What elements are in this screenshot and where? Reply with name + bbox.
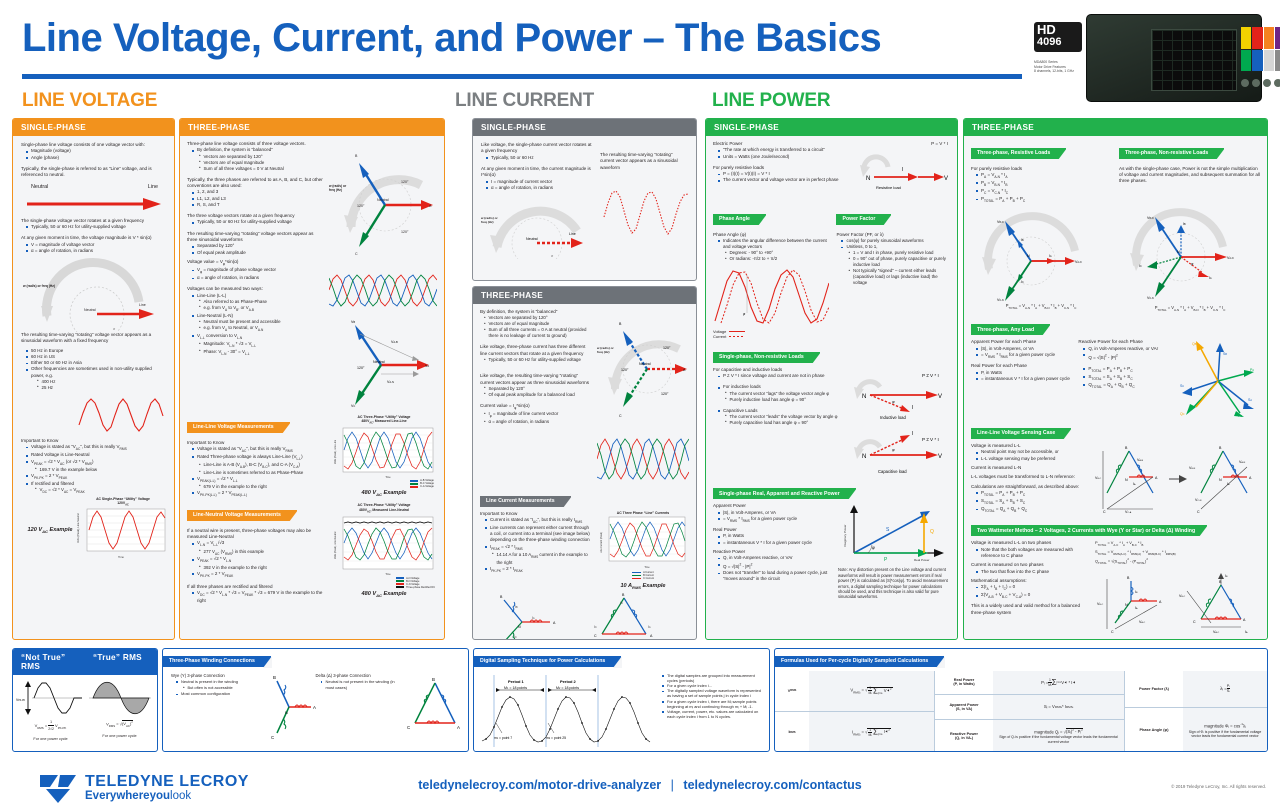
rms-not-true-header: “Not True” RMS — [13, 649, 85, 675]
wye-two-wattmeter-icon: BC AN VB-C VA-C IB IA — [1095, 571, 1171, 635]
pt-nonres-p: As with the single-phase case, Power is … — [1119, 166, 1261, 185]
svg-text:Time: Time — [644, 566, 650, 569]
svg-text:B: B — [1127, 576, 1130, 580]
pt-nonres-eq: PTOTAL = VA-N * IA + VB-N * IB + VC-N * … — [1119, 305, 1261, 313]
vs-p5: The resulting time-varying “rotating” vo… — [21, 332, 166, 345]
svg-text:SA: SA — [1248, 398, 1252, 402]
ct-legend: A Current B Current C Current — [597, 571, 689, 580]
footer-link-motor-drive-analyzer[interactable]: teledynelecroy.com/motor-drive-analyzer — [418, 778, 661, 792]
svg-text:VA: VA — [425, 364, 429, 368]
svg-text:B: B — [1125, 446, 1128, 450]
list-item: Of equal peak amplitude for a balanced l… — [484, 392, 592, 398]
list-item: The digitally sampled voltage waveform i… — [662, 688, 761, 698]
svg-text:Volts (Peak), Line-Neutral: Volts (Peak), Line-Neutral — [77, 513, 80, 543]
list-item: = instantaneous V * I for a given power … — [976, 376, 1072, 382]
ribbon-line-neutral-voltage: Line-Neutral Voltage Measurements — [187, 510, 297, 521]
svg-text:B: B — [432, 677, 435, 682]
wye-winding-icon: BC AN IB IC IA — [480, 592, 562, 640]
list-item: VPEAK = √2 * VL-N — [192, 556, 326, 564]
ribbon-real-apparent-reactive: Single-phase Real, Apparent and Reactive… — [713, 488, 856, 499]
svg-text:B: B — [500, 595, 503, 599]
list-item: The current vector and voltage vector ar… — [718, 177, 849, 183]
footer-link-contact-us[interactable]: teledynelecroy.com/contactus — [683, 778, 861, 792]
svg-text:B: B — [622, 593, 625, 597]
table-row: Phase Angle (φ) magnitude Φᵢ = cos-1λᵢ S… — [1125, 708, 1267, 752]
vs-rotation-diagram: Neutral Line α w (rad/s) or freq (Hz) — [21, 254, 166, 332]
list-item: Neutral is not present in the winding (i… — [321, 679, 400, 691]
list-item: Vφ = magnitude of phase voltage vector — [192, 267, 324, 275]
svg-text:Capacitive load: Capacitive load — [878, 469, 907, 474]
svg-text:Time: Time — [385, 476, 391, 479]
svg-text:IC: IC — [594, 625, 597, 629]
list-item: PA = VA-N * IA — [976, 172, 1111, 180]
vt-legend-line-line: A-B Voltage B-C Voltage C-A Voltage — [331, 479, 434, 488]
svg-text:V: V — [938, 454, 942, 460]
list-item: Sum of all three currents = 0 A at neutr… — [484, 327, 592, 339]
svg-text:VB-N: VB-N — [1189, 466, 1196, 470]
list-item: PB = VB-N * IB — [976, 180, 1111, 188]
svg-text:V: V — [938, 394, 942, 400]
pt-tw-p4: This is a widely used and valid method f… — [971, 603, 1089, 616]
list-item: PC = VC-N * IC — [976, 188, 1111, 196]
list-item: PTOTAL = PA + PB + PC — [1083, 366, 1172, 374]
list-item: VPK-PK = 2 * VPEAK — [26, 473, 166, 481]
panel-formulas: Formulas Used for Per-cycle Digitally Sa… — [774, 648, 1268, 752]
list-item: VPK-PK = 2 * VPEAK — [192, 571, 326, 579]
panel-voltage-three-phase: THREE-PHASE Three-phase line voltage con… — [179, 118, 445, 640]
ribbon-line-line-voltage: Line-Line Voltage Measurements — [187, 422, 290, 433]
section-title-line-voltage: LINE VOLTAGE — [22, 90, 157, 112]
vs-rot-line: Line — [139, 303, 146, 307]
svg-text:120°: 120° — [661, 392, 669, 396]
rms-true-eq: VRMS = √(VAC)2 — [85, 719, 154, 730]
pt-res-eq: PTOTAL = VA-N * IA + VB-N * IB + VC-N * … — [971, 303, 1111, 311]
page-title: Line Voltage, Current, and Power – The B… — [22, 16, 881, 61]
vt-line-line-vectors: Neutral VA VB VC VA-B VA-N 120° — [329, 313, 437, 411]
svg-text:IB: IB — [515, 605, 518, 609]
vt-p2: Typically, the three phases are referred… — [187, 177, 324, 190]
ct-p4: Current value = Iφ*sin(α) — [480, 403, 592, 411]
vs-neutral-label: Neutral — [31, 184, 48, 190]
svg-text:120°: 120° — [663, 346, 671, 350]
ps-eq2a: P ≠ V * I — [922, 373, 939, 378]
svg-text:m1 = point 7: m1 = point 7 — [494, 736, 512, 740]
svg-text:C: C — [1193, 620, 1196, 624]
ribbon-three-any-load: Three-phase, Any Load — [971, 324, 1050, 335]
sampling-bullets: The digital samples are grouped into mea… — [662, 673, 761, 720]
panel-header: SINGLE-PHASE — [473, 119, 696, 136]
svg-text:φ: φ — [892, 447, 895, 452]
table-row: Power Factor (λ) λᵢ = PᵢSᵢ — [1125, 671, 1267, 709]
vs-rot-neutral: Neutral — [84, 308, 96, 312]
list-item: = instantaneous V * I for a given power … — [718, 540, 832, 546]
panel-header: THREE-PHASE — [473, 287, 696, 304]
panel-header: THREE-PHASE — [180, 119, 444, 136]
cs-p2: At any given moment in time, the current… — [481, 166, 594, 179]
svg-text:VC-N: VC-N — [1195, 498, 1202, 502]
svg-text:B: B — [355, 154, 358, 158]
svg-text:N: N — [1219, 478, 1222, 482]
period2-label: Period 2 — [560, 679, 577, 684]
vs-chart: AC Single-Phase “Utility” Voltage120VAC … — [21, 497, 166, 563]
formulas-table: VRMS VRMSᵢ = √1Mᵢ Σj=mᵢ V⯇2 IRMS IRMSᵢ =… — [775, 671, 1267, 753]
list-item: The two that flow into the C phase — [976, 569, 1089, 575]
svg-text:120°: 120° — [357, 204, 365, 208]
list-item: Σ(VA-B + VB-C + VC-A) = 0 — [976, 592, 1089, 600]
sampling-waveform: Period 1 Period 2 M1 = 18 points M2 = 18… — [480, 671, 652, 751]
vt-legend-line-neutral: A-N Voltage B-N Voltage C-N Voltage Thre… — [331, 577, 435, 589]
wye-equivalent-diagram: BCA N VB-N VA-N VC-N IA — [1189, 443, 1259, 515]
list-item: Iφ = magnitude of line current vector — [484, 411, 592, 419]
list-item: Indicates the angular difference between… — [718, 238, 830, 250]
svg-text:N: N — [1125, 603, 1128, 607]
svg-text:VB-C: VB-C — [1095, 476, 1102, 480]
svg-text:V: V — [944, 176, 948, 182]
list-item: VPK-PK(L-L) = 2 * VPEAK(L-L) — [192, 490, 326, 498]
list-item: The digital samples are grouped into mea… — [662, 673, 761, 683]
svg-text:Line: Line — [569, 232, 576, 236]
ct-vector-rosette: Neutral A B C 120° 120° 120° — [597, 309, 689, 427]
svg-text:VB-C: VB-C — [1097, 602, 1104, 606]
transform-arrow-icon — [1167, 469, 1187, 489]
panel-voltage-single-phase: SINGLE-PHASE Single-phase line voltage c… — [12, 118, 175, 640]
ps-phase-waveform: φ — [713, 265, 829, 327]
svg-text:C: C — [594, 634, 597, 638]
list-item: QTOTAL = QA + QB + QC — [1083, 382, 1172, 390]
svg-text:IA: IA — [1209, 276, 1212, 280]
vt-p4: The resulting time-varying “rotating” vo… — [187, 231, 324, 244]
title-underline — [22, 74, 1022, 79]
svg-text:B: B — [619, 322, 622, 326]
list-item: R, S, and T — [192, 202, 324, 208]
svg-text:N: N — [1027, 254, 1030, 258]
svg-text:φ: φ — [892, 399, 895, 404]
list-item: α = angle of rotation, in radians — [484, 419, 592, 425]
ribbon-digital-sampling: Digital Sampling Technique for Power Cal… — [474, 656, 621, 667]
table-row: Apparent Power (S, in VA) Sᵢ = VRMSᵢ * I… — [935, 695, 1124, 720]
list-item: Voltage, current, power, etc. values are… — [662, 709, 761, 719]
vs-sine-waveform — [21, 393, 167, 435]
ct-p2: Like voltage, three-phase current has th… — [480, 344, 592, 357]
svg-text:IA: IA — [1133, 482, 1136, 486]
list-item: Units = Watts (one Joule/second) — [718, 154, 849, 160]
svg-text:A: A — [553, 621, 556, 625]
ribbon-line-current-measurements: Line Current Measurements — [480, 496, 571, 507]
svg-text:φ: φ — [872, 545, 875, 550]
svg-text:Neutral: Neutral — [526, 237, 538, 241]
delta-winding-icon: BCA IB IC IA — [580, 592, 662, 640]
svg-text:α: α — [113, 327, 116, 331]
list-item: Q = √|S|2 - |P|2 — [718, 561, 832, 570]
section-title-line-power: LINE POWER — [712, 90, 830, 112]
cs-side-text: The resulting time-varying “rotating” cu… — [600, 152, 688, 171]
list-item: VDC = √2 * VL-N * √3 = VPEAK * √3 = 679 … — [192, 590, 326, 604]
ribbon-formulas: Formulas Used for Per-cycle Digitally Sa… — [775, 656, 944, 667]
svg-text:Volts (Peak), Line-Line: Volts (Peak), Line-Line — [334, 440, 337, 465]
list-item: STOTAL = SA + SB + SC — [1083, 374, 1172, 382]
pt-tw-winding-diagrams: BC AN VB-C VA-C IB IA — [1095, 571, 1259, 635]
list-item: QTOTAL = QA + QB + QC — [976, 506, 1089, 514]
svg-text:SC: SC — [1180, 384, 1184, 388]
list-item: Typically, 50 or 60 Hz — [486, 155, 594, 161]
svg-text:C: C — [1111, 630, 1114, 634]
list-item: IPK-PK = 2 * IPEAK — [485, 566, 592, 574]
pt-nonresistive-vectors: N VA-N VB-N VC-N IB IA IC φ — [1119, 199, 1261, 305]
panel-winding-connections: Three-Phase Winding Connections Wye (Y) … — [162, 648, 469, 752]
svg-text:N: N — [1177, 250, 1180, 254]
svg-text:VB: VB — [351, 320, 355, 324]
panel-power-three-phase: THREE-PHASE Three-phase, Resistive Loads… — [963, 118, 1268, 640]
ribbon-power-factor: Power Factor — [836, 214, 891, 225]
panel-digital-sampling: Digital Sampling Technique for Power Cal… — [473, 648, 770, 752]
svg-text:A: A — [457, 725, 460, 730]
list-item: Line-Line is A-B (VA-B), B-C (VB-C), and… — [199, 462, 326, 470]
svg-text:C: C — [271, 735, 274, 740]
svg-text:S: S — [886, 527, 890, 533]
rms-not-true-caption: For one power cycle — [16, 736, 85, 742]
svg-text:I: I — [902, 167, 903, 173]
panel-header: SINGLE-PHASE — [13, 119, 174, 136]
svg-text:VPK-PK: VPK-PK — [16, 698, 26, 702]
svg-text:IB: IB — [1225, 574, 1228, 578]
ps-wave-legend: Voltage Current — [713, 329, 830, 339]
svg-text:Q: Q — [930, 529, 934, 535]
svg-text:IA: IA — [1135, 606, 1138, 610]
svg-text:PA: PA — [1250, 368, 1254, 372]
svg-text:IA: IA — [1245, 630, 1248, 634]
panel-rms-comparison: “Not True” RMS “True” RMS VPK-PK VRMS = … — [12, 648, 158, 752]
delta-two-wattmeter-icon: BCA IB IA VB-C VA-C — [1177, 571, 1257, 635]
list-item: PTOTAL = PA + PB + PC — [976, 196, 1111, 204]
vt-three-sines — [329, 271, 437, 309]
list-item: Rated Three-phase voltage is always Line… — [192, 454, 326, 462]
list-item: 0 = 90° out of phase, purely capacitive … — [848, 256, 950, 268]
ribbon-line-line-sensing: Line-Line Voltage Sensing Case — [971, 428, 1071, 439]
svg-text:P: P — [884, 557, 888, 563]
list-item: e.g. from VA to VB, or VA-B — [199, 305, 324, 313]
svg-text:VA-B: VA-B — [1137, 458, 1144, 462]
vs-line-label: Line — [148, 184, 158, 190]
list-item: Phase: VL-N - 30° = VL-L — [199, 349, 324, 357]
svg-text:Volts (Peak), Line-Neutral: Volts (Peak), Line-Neutral — [334, 531, 337, 559]
list-item: Most common configuration — [176, 691, 257, 697]
list-item: Voltage is stated as “VAC”, but this is … — [192, 446, 326, 454]
ps-resistive-caption: Resistive load — [876, 185, 901, 190]
list-item: Note that the both voltages are measured… — [976, 547, 1089, 559]
scope-channel-color-keys — [1241, 27, 1280, 71]
ps-eq1: P = V * I — [931, 141, 948, 146]
svg-text:VA-N: VA-N — [1239, 460, 1246, 464]
ct-p3: Like voltage, the resulting time-varying… — [480, 373, 592, 386]
svg-text:N: N — [862, 394, 866, 400]
list-item: Of equal peak amplitude — [192, 250, 324, 256]
vt-chart-line-neutral: Volts (Peak), Line-Neutral Time — [331, 515, 437, 581]
list-item: = VRMS * IRMS for a given power cycle — [718, 516, 832, 524]
svg-text:Inductive load: Inductive load — [880, 415, 907, 420]
svg-text:120°: 120° — [401, 180, 409, 184]
svg-text:120°: 120° — [621, 368, 629, 372]
list-item: Sum of all three voltages = 0 V at Neutr… — [199, 166, 324, 172]
rms-not-true-block: VPK-PK VRMS = 12√2 VPK-PK For one power … — [16, 679, 85, 742]
svg-text:M2 = 18 points: M2 = 18 points — [556, 686, 579, 690]
footer-links: teledynelecroy.com/motor-drive-analyzer … — [0, 778, 1280, 792]
svg-text:120°: 120° — [357, 366, 365, 370]
ct-winding-diagrams: BC AN IB IC IA BCA IB IC IA — [480, 592, 689, 640]
svg-text:IA: IA — [648, 625, 651, 629]
footer: TELEDYNE LECROY Everywhereyoulook teledy… — [0, 762, 1280, 812]
ps-note: Note: Any distortion present on the Line… — [838, 567, 950, 599]
ribbon-single-nonresistive: Single-phase, Non-resistive Loads — [713, 352, 820, 363]
list-item: Typically, 50 or 60 Hz for utility-suppl… — [192, 219, 324, 225]
vt-vector-rosette: Neutral A B C 120° 120° 120° — [329, 141, 437, 269]
ribbon-phase-angle: Phase Angle — [713, 214, 766, 225]
svg-text:C: C — [407, 725, 410, 730]
list-item: P ≠ V * I since voltage and current are … — [718, 373, 844, 379]
oscilloscope-product-image: HD 4096 MDA800 Series Motor Drive Featur… — [1034, 8, 1266, 112]
svg-text:VA-C: VA-C — [1139, 620, 1146, 624]
svg-text:VB-C: VB-C — [1179, 594, 1186, 598]
svg-text:VA-N: VA-N — [1075, 260, 1082, 264]
wye-connection-icon: B C A N — [261, 673, 315, 741]
table-row: VRMS VRMSᵢ = √1Mᵢ Σj=mᵢ V⯇2 — [775, 671, 934, 713]
section-title-line-current: LINE CURRENT — [455, 90, 594, 112]
list-item: PTOTAL = PA + PB + PC — [976, 490, 1089, 498]
svg-text:QC: QC — [1180, 412, 1185, 416]
list-item: e.g. from VA to Neutral, or VA-N — [199, 325, 324, 333]
list-item: Other frequencies are sometimes used in … — [26, 366, 166, 378]
table-row: IRMS IRMSᵢ = √1Mᵢ Σj=mᵢ I⯇2 — [775, 712, 934, 752]
svg-text:VB-N: VB-N — [997, 220, 1004, 224]
ps-eq2b: P ≠ V * I — [922, 437, 939, 442]
svg-text:120°: 120° — [401, 230, 409, 234]
svg-text:N: N — [518, 625, 521, 629]
svg-text:PC: PC — [1238, 414, 1242, 417]
panel-header: THREE-PHASE — [964, 119, 1267, 136]
pt-pqs-vectors: PA SB QB SA PC SC QC — [1178, 339, 1260, 417]
svg-text:C: C — [355, 252, 358, 256]
ribbon-three-resistive: Three-phase, Resistive Loads — [971, 148, 1066, 159]
svg-text:Real Power: Real Power — [914, 558, 930, 562]
svg-text:VC-N: VC-N — [1147, 296, 1154, 300]
svg-text:B: B — [1219, 446, 1222, 450]
rms-true-block: VRMS = √(VAC)2 For one power cycle — [85, 679, 154, 742]
cs-rotation-diagram: Neutral Line α w (rad/s) orfreq (Hz) — [481, 191, 594, 259]
svg-text:IB: IB — [1135, 590, 1138, 594]
list-item: IPEAK = √2 * IRMS — [485, 544, 592, 552]
svg-text:φ: φ — [743, 312, 746, 316]
vs-vector-diagram: Neutral Line — [21, 184, 166, 218]
svg-text:SB: SB — [1223, 352, 1227, 356]
list-item: = VRMS * IRMS for a given power cycle — [976, 352, 1072, 360]
vt-chart-line-line: Volts (Peak), Line-Line Time — [331, 426, 437, 484]
list-item: Current is stated as “IAC”, but this is … — [485, 517, 592, 525]
list-item: VDC = √2 * VAC = VPEAK — [35, 487, 166, 495]
svg-text:Line Current (Peak): Line Current (Peak) — [600, 532, 603, 553]
ribbon-three-nonresistive: Three-phase, Non-resistive Loads — [1119, 148, 1224, 159]
svg-text:m2 = point 25: m2 = point 25 — [546, 736, 566, 740]
svg-text:VA-N: VA-N — [1227, 256, 1234, 260]
list-item: Angle (phase) — [26, 155, 166, 161]
svg-text:N: N — [1125, 478, 1128, 482]
svg-text:QB: QB — [1192, 342, 1197, 346]
pt-ll-transform-diagrams: BCA N VB-C VC-A VA-B IA — [1095, 443, 1259, 515]
svg-text:A: A — [1155, 476, 1158, 480]
svg-text:I: I — [912, 431, 913, 437]
svg-text:VC-A: VC-A — [1125, 510, 1132, 514]
vs-list-1: Magnitude (voltage) Angle (phase) — [26, 148, 166, 160]
table-row: Reactive Power (Q, in VAᵣ) magnitude Qᵢ … — [935, 720, 1124, 752]
list-item: Line currents can represent either curre… — [485, 525, 592, 544]
delta-connection-icon: B C A — [403, 673, 460, 741]
svg-text:Neutral: Neutral — [639, 362, 651, 366]
list-item: VPEAK = √2 * VAC (or √2 * VRMS) — [26, 459, 166, 467]
panel-current-single-phase: SINGLE-PHASE Like voltage, the single-ph… — [472, 118, 697, 281]
svg-text:M1 = 18 points: M1 = 18 points — [504, 686, 527, 690]
svg-text:IA: IA — [1049, 254, 1052, 258]
list-item: 14.14 A for a 10 ARMS current in the exa… — [492, 552, 592, 566]
svg-text:A: A — [1159, 600, 1162, 604]
vs-p2: Typically, the single-phase is referred … — [21, 166, 166, 179]
list-item: Does not “transfer” to load during a pow… — [718, 570, 832, 582]
svg-text:A: A — [1243, 618, 1246, 622]
vs-itk-list: Voltage is stated as “VAC”, but this is … — [26, 444, 166, 466]
cs-dotted-sine — [600, 181, 688, 245]
svg-text:Neutral: Neutral — [373, 360, 385, 364]
ps-inductive-diagram: P ≠ V * I N V I φ Inductive load — [850, 367, 950, 421]
vs-omega-label: w (rad/s) or freq (Hz) — [23, 284, 55, 288]
scope-screen — [1151, 29, 1237, 91]
svg-text:IA: IA — [532, 616, 535, 620]
svg-text:VA-C: VA-C — [1213, 630, 1220, 634]
delta-source-diagram: BCA N VB-C VC-A VA-B IA — [1095, 443, 1165, 515]
svg-text:VC: VC — [351, 404, 355, 408]
svg-text:IC: IC — [1139, 264, 1142, 268]
ps-power-triangle: S P Q φ Imaginary Power Real Power — [838, 503, 950, 565]
scope-chassis — [1086, 14, 1262, 102]
svg-text:Imaginary Power: Imaginary Power — [843, 525, 847, 548]
svg-text:VA-B: VA-B — [391, 340, 398, 344]
list-item: VL-L conversion to VL-N — [192, 333, 324, 341]
list-item: Magnitude: VL-N * √3 = VL-L — [199, 341, 324, 349]
svg-text:C: C — [1103, 510, 1106, 514]
svg-text:VB-N: VB-N — [1147, 216, 1154, 220]
svg-text:I: I — [912, 405, 913, 411]
pt-ll-p3: L-L voltages must be transformed to L-N … — [971, 474, 1089, 480]
svg-text:α: α — [551, 254, 554, 258]
poster-root: Line Voltage, Current, and Power – The B… — [0, 0, 1280, 812]
scope-knobs — [1241, 75, 1280, 93]
svg-text:IB: IB — [620, 601, 623, 605]
rms-true-caption: For one power cycle — [85, 733, 154, 739]
rms-not-true-eq: VRMS = 12√2 VPK-PK — [16, 719, 85, 733]
svg-text:B: B — [1219, 580, 1222, 584]
copyright: © 2019 Teledyne LeCroy, Inc. All rights … — [1171, 784, 1266, 789]
list-item: Or radians: -π/2 to + π/2 — [725, 256, 830, 262]
list-item: Typically, 50 or 60 Hz for utility-suppl… — [484, 357, 592, 363]
vt-p7: If a neutral wire is present, three-phas… — [187, 528, 326, 541]
list-item: 25 Hz — [37, 385, 166, 391]
svg-text:N: N — [285, 711, 288, 715]
svg-text:Neutral: Neutral — [377, 198, 389, 202]
list-item: STOTAL = SA + SB + SC — [976, 498, 1089, 506]
list-item: Not typically “signed” – current either … — [848, 268, 950, 286]
svg-text:C: C — [619, 414, 622, 418]
svg-text:A: A — [1249, 476, 1252, 480]
cs-p1: Like voltage, the single-phase current v… — [481, 142, 594, 155]
table-row: Real Power (P, in Watts) Pᵢ = 1Mᵢ Σj=mᵢ … — [935, 671, 1124, 696]
scope-caption: MDA800 Series Motor Drive Features 8 cha… — [1034, 60, 1086, 74]
list-item: Q = √|S|2 - |P|2 — [1083, 352, 1172, 361]
